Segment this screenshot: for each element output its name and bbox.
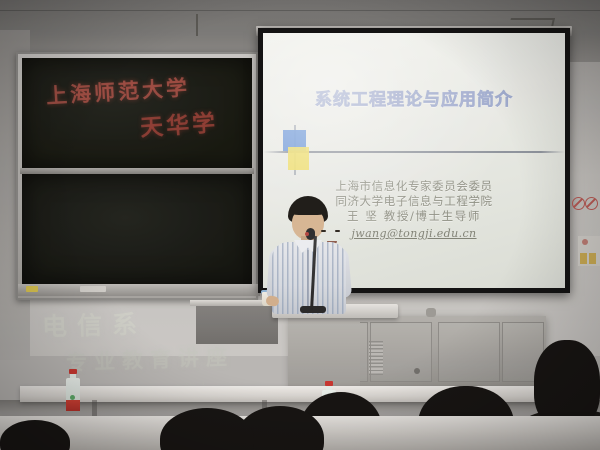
presenter-fringe	[290, 205, 326, 215]
small-object-on-cabinet	[426, 308, 436, 317]
presenter	[268, 196, 350, 314]
prohibition-sign-strip	[572, 196, 600, 210]
lectern-shelf-recess	[196, 302, 278, 344]
chalk-text-white-1: 电信系	[42, 305, 148, 344]
slide-body-line-1: 上海市信息化专家委员会委员	[263, 179, 565, 194]
lectern-column	[288, 316, 360, 388]
chalk-text-red-1: 上海师范大学	[45, 72, 191, 111]
poster-symbol-icon	[582, 239, 588, 245]
bottle-body	[66, 378, 80, 406]
presenter-eye-right	[335, 230, 340, 232]
board-eraser	[80, 286, 106, 292]
no-smoking-icon	[572, 197, 585, 210]
slide-decoration-yellow-square	[288, 147, 309, 170]
student-head	[534, 340, 600, 428]
presenter-shirt-placket	[307, 250, 309, 310]
chalkboard-lower-panel: 电信系 专业教育讲座 主讲人	[22, 174, 252, 284]
chalk-stick	[26, 286, 38, 292]
cabinet-handle	[414, 368, 420, 374]
screen-mount-bracket-left	[196, 14, 198, 36]
classroom-photo: 上海师范大学 天华学 电信系 专业教育讲座 主讲人 MITSUBISHI 系统工…	[0, 0, 600, 450]
cabinet-door	[370, 322, 432, 382]
chalkboard: 上海师范大学 天华学 电信系 专业教育讲座 主讲人	[16, 52, 258, 300]
presenter-shirt	[272, 242, 346, 314]
chalk-text-white-2: 专业教育讲座	[66, 341, 235, 377]
chalkboard-upper-panel: 上海师范大学 天华学	[22, 58, 252, 168]
bottle-label	[66, 400, 80, 411]
chalk-tray	[18, 284, 260, 296]
chalk-text-red-2: 天华学	[139, 103, 219, 142]
presenter-eye-left	[321, 230, 326, 232]
cabinet-door	[438, 322, 500, 382]
slide-title: 系统工程理论与应用简介	[263, 85, 565, 110]
no-entry-icon	[585, 197, 598, 210]
ceiling-seam	[0, 10, 600, 11]
microphone-indicator-icon	[305, 232, 309, 236]
